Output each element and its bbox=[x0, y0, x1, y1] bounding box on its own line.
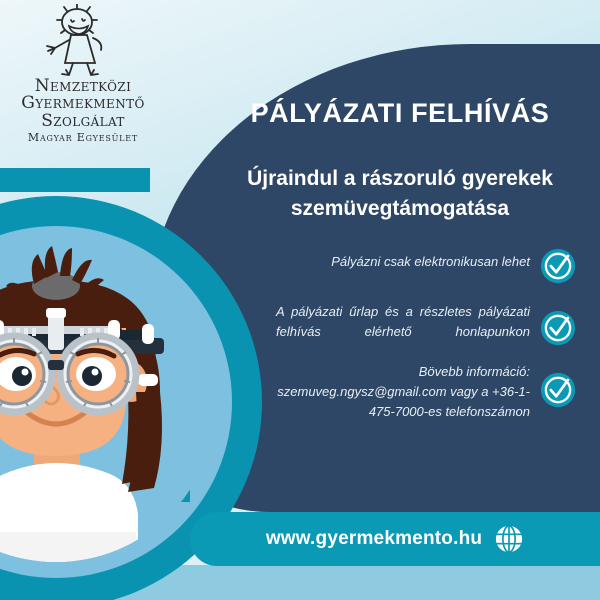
bullet-list: Pályázni csak elektronikusan lehet A pál… bbox=[276, 252, 576, 440]
poster-canvas: Nemzetközi Gyermekmentő Szolgálat Magyar… bbox=[0, 0, 600, 600]
bullet-text-1: Pályázni csak elektronikusan lehet bbox=[276, 252, 530, 272]
child-stick-figure-icon bbox=[8, 4, 158, 76]
subtitle-line-2: szemüvegtámogatása bbox=[210, 194, 590, 224]
check-circle-icon bbox=[540, 372, 576, 408]
bullet-item-2: A pályázati űrlap és a részletes pályáza… bbox=[276, 302, 576, 346]
bullet-text-3: Bövebb információ: szemuveg.ngysz@gmail.… bbox=[276, 362, 530, 422]
page-subtitle: Újraindul a rászoruló gyerekek szemüvegt… bbox=[210, 164, 590, 224]
bullet-item-1: Pályázni csak elektronikusan lehet bbox=[276, 252, 576, 284]
organization-logo: Nemzetközi Gyermekmentő Szolgálat Magyar… bbox=[8, 4, 158, 164]
website-footer-bar[interactable]: www.gyermekmento.hu bbox=[190, 512, 600, 566]
teal-top-accent-bar bbox=[0, 168, 150, 192]
logo-line-4: Magyar Egyesület bbox=[8, 132, 158, 143]
bullet-item-3: Bövebb információ: szemuveg.ngysz@gmail.… bbox=[276, 362, 576, 422]
logo-wordmark: Nemzetközi Gyermekmentő Szolgálat Magyar… bbox=[8, 78, 158, 143]
page-title: PÁLYÁZATI FELHÍVÁS bbox=[210, 98, 590, 129]
subtitle-line-1: Újraindul a rászoruló gyerekek bbox=[210, 164, 590, 194]
logo-line-3: Szolgálat bbox=[8, 113, 158, 130]
website-url[interactable]: www.gyermekmento.hu bbox=[266, 528, 482, 550]
globe-icon bbox=[494, 524, 524, 554]
check-circle-icon bbox=[540, 310, 576, 346]
check-circle-icon bbox=[540, 248, 576, 284]
bullet-text-2: A pályázati űrlap és a részletes pályáza… bbox=[276, 302, 530, 342]
